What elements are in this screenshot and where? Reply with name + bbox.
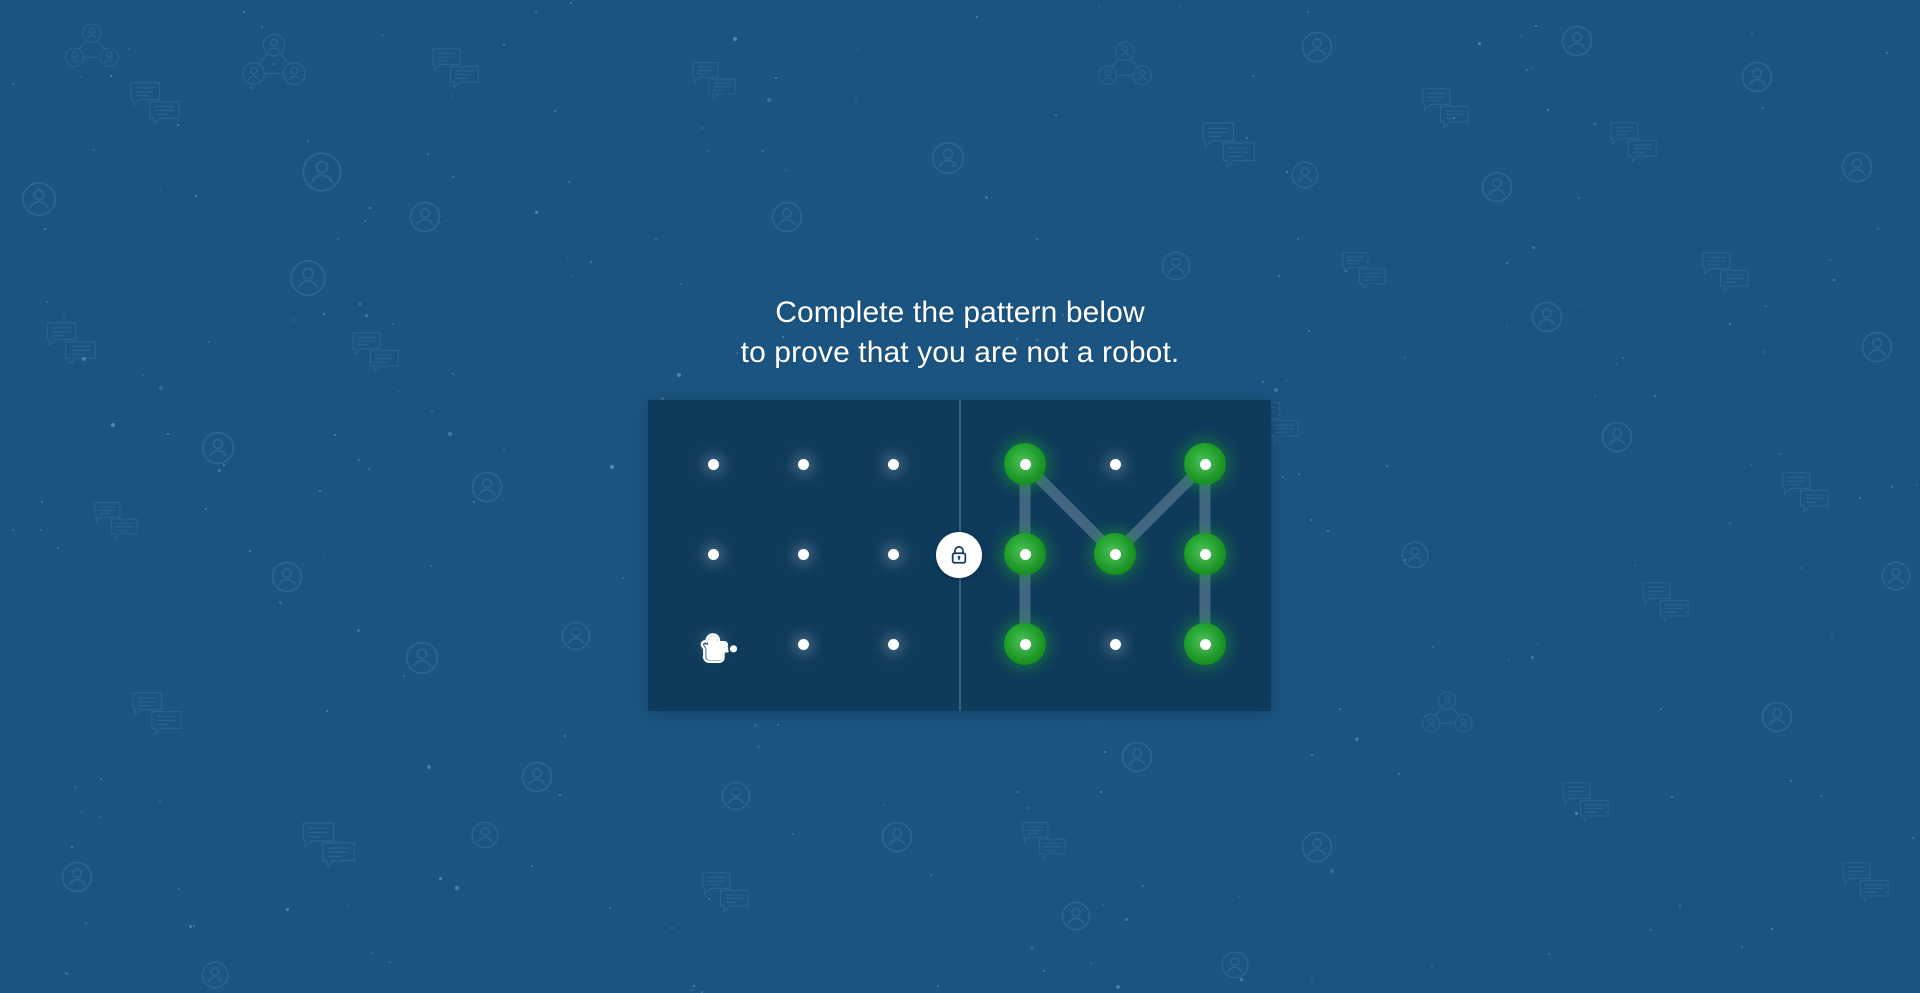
- pattern-dot-right-11: [1110, 549, 1121, 560]
- pattern-dot-left-12[interactable]: [888, 549, 899, 560]
- pattern-dot-left-00[interactable]: [708, 459, 719, 470]
- pattern-dot-left-11[interactable]: [798, 549, 809, 560]
- page-title: Complete the pattern below to prove that…: [0, 293, 1920, 373]
- pattern-input-grid[interactable]: [648, 400, 959, 711]
- pattern-dot-right-01: [1110, 459, 1121, 470]
- pattern-dot-left-02[interactable]: [888, 459, 899, 470]
- pointing-hand-cursor: [692, 629, 740, 669]
- pattern-dot-left-10[interactable]: [708, 549, 719, 560]
- pattern-dot-right-02: [1200, 459, 1211, 470]
- pattern-dot-left-01[interactable]: [798, 459, 809, 470]
- pattern-dot-left-21[interactable]: [798, 639, 809, 650]
- pointing-hand-icon: [692, 629, 740, 669]
- pattern-dot-left-22[interactable]: [888, 639, 899, 650]
- pattern-dot-right-20: [1020, 639, 1031, 650]
- pattern-dot-right-21: [1110, 639, 1121, 650]
- pattern-dot-right-10: [1020, 549, 1031, 560]
- pattern-dot-right-12: [1200, 549, 1211, 560]
- page-title-line-1: Complete the pattern below: [0, 293, 1920, 333]
- page-title-line-2: to prove that you are not a robot.: [0, 333, 1920, 373]
- pattern-captcha-panel[interactable]: [648, 400, 1271, 711]
- pattern-dot-right-00: [1020, 459, 1031, 470]
- lock-icon: [948, 544, 970, 566]
- pattern-dot-right-22: [1200, 639, 1211, 650]
- lock-badge: [936, 532, 982, 578]
- reference-pattern-grid: [960, 400, 1271, 711]
- captcha-stage: Complete the pattern below to prove that…: [0, 0, 1920, 993]
